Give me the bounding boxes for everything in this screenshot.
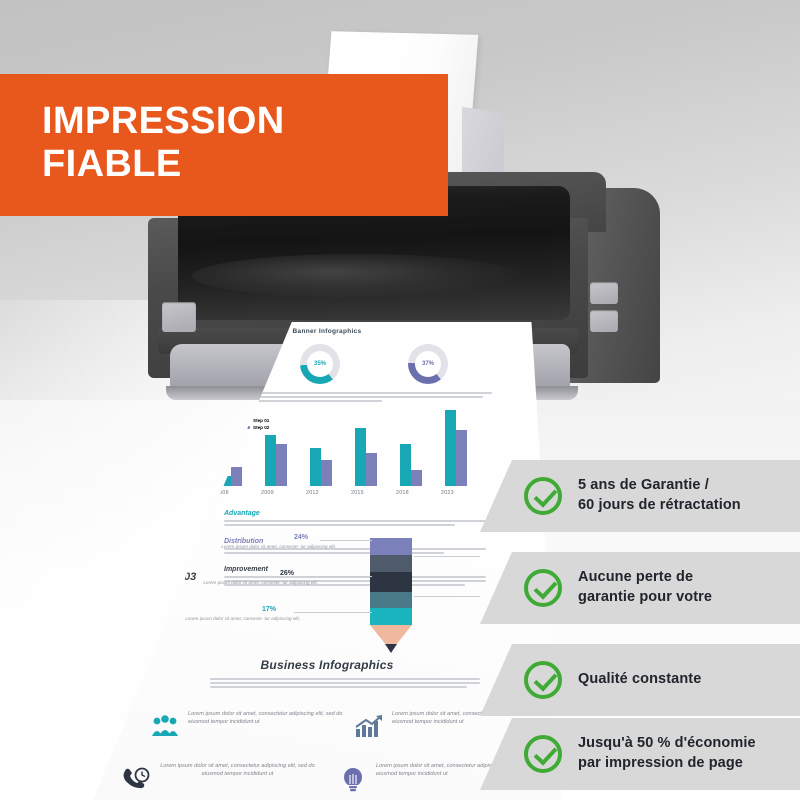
check-circle-icon <box>524 477 562 515</box>
donut-value-1: 35% <box>307 351 333 377</box>
donut-chart-2: 37% <box>408 344 448 384</box>
check-circle-icon <box>524 735 562 773</box>
printer-drum-gloss <box>192 254 522 298</box>
donut-value-2: 37% <box>415 351 441 377</box>
feature-label: Qualité constante <box>578 670 701 690</box>
poster-canvas: Banner Infographics 35% 37% <box>0 0 800 800</box>
feature-row-quality[interactable]: Qualité constante <box>480 644 800 716</box>
feature-row-no-loss[interactable]: Aucune perte de garantie pour votre <box>480 552 800 624</box>
printer-right-button-2[interactable] <box>590 310 618 332</box>
feature-label: Aucune perte de garantie pour votre <box>578 568 712 607</box>
feature-label: Jusqu'à 50 % d'économie par impression d… <box>578 734 756 773</box>
headline-banner: IMPRESSION FIABLE <box>0 74 448 216</box>
donut-chart-1: 35% <box>300 344 340 384</box>
check-circle-icon <box>524 661 562 699</box>
printer-right-button-1[interactable] <box>590 282 618 304</box>
feature-label: 5 ans de Garantie / 60 jours de rétracta… <box>578 476 741 515</box>
feature-row-savings[interactable]: Jusqu'à 50 % d'économie par impression d… <box>480 718 800 790</box>
headline-text: IMPRESSION FIABLE <box>42 100 448 187</box>
donut-chart-group: 35% 37% <box>300 344 480 384</box>
feature-row-warranty[interactable]: 5 ans de Garantie / 60 jours de rétracta… <box>480 460 800 532</box>
printer-left-button[interactable] <box>162 302 196 332</box>
check-circle-icon <box>524 569 562 607</box>
feature-list: 5 ans de Garantie / 60 jours de rétracta… <box>0 440 800 800</box>
